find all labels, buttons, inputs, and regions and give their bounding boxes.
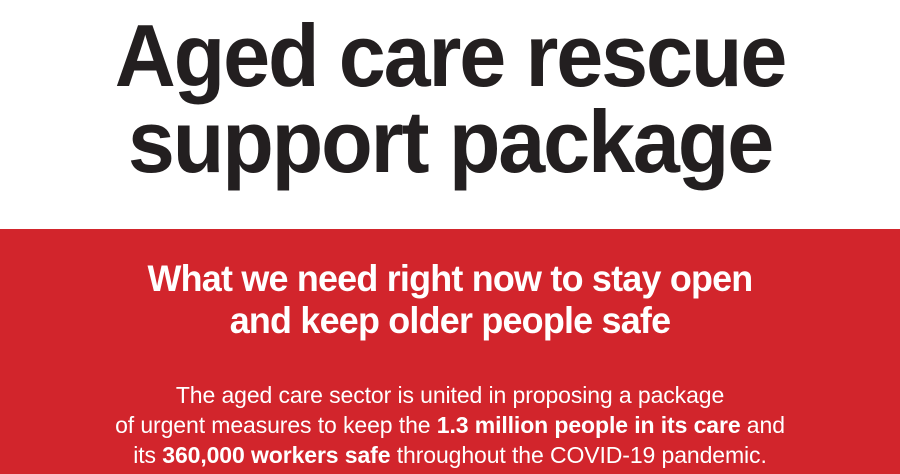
- page-title-line-1: Aged care rescue: [18, 14, 882, 98]
- title-block: Aged care rescue support package: [0, 0, 900, 229]
- body-line-2-emphasis: 1.3 million people in its care: [437, 412, 741, 438]
- body-line-2-text-a: of urgent measures to keep the: [115, 412, 437, 438]
- subheading-line-1: What we need right now to stay open: [14, 258, 887, 300]
- page-title-line-2: support package: [18, 100, 882, 184]
- body-line-3-text-b: throughout the COVID-19 pandemic.: [390, 442, 766, 468]
- body-paragraph: The aged care sector is united in propos…: [0, 342, 900, 470]
- body-line-2: of urgent measures to keep the 1.3 milli…: [0, 410, 900, 440]
- red-banner: What we need right now to stay open and …: [0, 229, 900, 474]
- body-line-1-text: The aged care sector is united in propos…: [176, 382, 724, 408]
- subheading-line-2: and keep older people safe: [14, 300, 887, 342]
- body-line-3: its 360,000 workers safe throughout the …: [0, 440, 900, 470]
- body-line-1: The aged care sector is united in propos…: [0, 380, 900, 410]
- body-line-3-text-a: its: [133, 442, 162, 468]
- body-line-2-text-b: and: [741, 412, 785, 438]
- poster-canvas: Aged care rescue support package What we…: [0, 0, 900, 474]
- subheading: What we need right now to stay open and …: [14, 229, 887, 342]
- body-line-3-emphasis: 360,000 workers safe: [162, 442, 390, 468]
